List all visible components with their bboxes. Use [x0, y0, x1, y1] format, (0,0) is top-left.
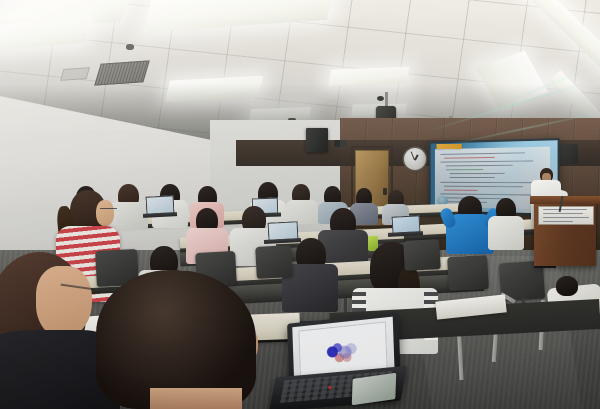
- foreground-person-neck: [150, 388, 242, 409]
- student-torso: [488, 216, 524, 250]
- chair[interactable]: [255, 245, 293, 279]
- chair[interactable]: [447, 255, 489, 291]
- document-diagram: [321, 338, 365, 366]
- podium-top: [530, 196, 600, 204]
- chair[interactable]: [403, 239, 441, 271]
- classroom-photo: [0, 0, 600, 409]
- student-torso: [286, 200, 318, 224]
- glasses-icon: [100, 208, 117, 214]
- podium-plaque: [538, 206, 594, 225]
- foreground-person-face: [36, 266, 92, 338]
- ceiling-camera-icon: [377, 96, 384, 101]
- wall-speaker-icon: [306, 128, 328, 152]
- student-head: [556, 276, 578, 296]
